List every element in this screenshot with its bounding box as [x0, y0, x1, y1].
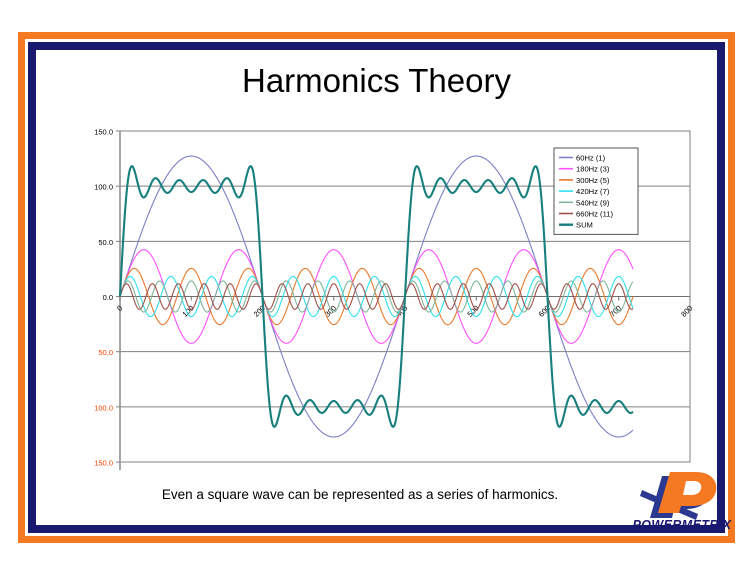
slide-caption: Even a square wave can be represented as… — [60, 487, 660, 502]
page-title: Harmonics Theory — [40, 62, 713, 100]
powermetrix-wordmark: POWERMETRIX — [624, 518, 740, 532]
y-tick-label: 150.0 — [94, 128, 113, 137]
legend-label: 660Hz (11) — [576, 210, 613, 219]
y-tick-label: 0.0 — [103, 293, 113, 302]
y-tick-label: 100.0 — [94, 403, 113, 412]
y-tick-label: 50.0 — [98, 348, 113, 357]
legend-label: 300Hz (5) — [576, 176, 610, 185]
harmonics-chart: 150.0100.050.00.050.0100.0150.0010020030… — [46, 118, 706, 478]
y-tick-label: 50.0 — [98, 238, 113, 247]
powermetrix-p-icon — [632, 468, 724, 522]
legend-label: 420Hz (7) — [576, 187, 610, 196]
y-tick-label: 150.0 — [94, 459, 113, 468]
powermetrix-logo: POWERMETRIX — [624, 468, 740, 542]
slide-root: Harmonics Theory 150.0100.050.00.050.010… — [0, 0, 750, 575]
legend-label: 60Hz (1) — [576, 154, 606, 163]
legend-label: 540Hz (9) — [576, 198, 610, 207]
legend-label: 180Hz (3) — [576, 165, 610, 174]
y-tick-label: 100.0 — [94, 183, 113, 192]
legend-label: SUM — [576, 221, 593, 230]
harmonics-chart-svg: 150.0100.050.00.050.0100.0150.0010020030… — [46, 118, 706, 478]
